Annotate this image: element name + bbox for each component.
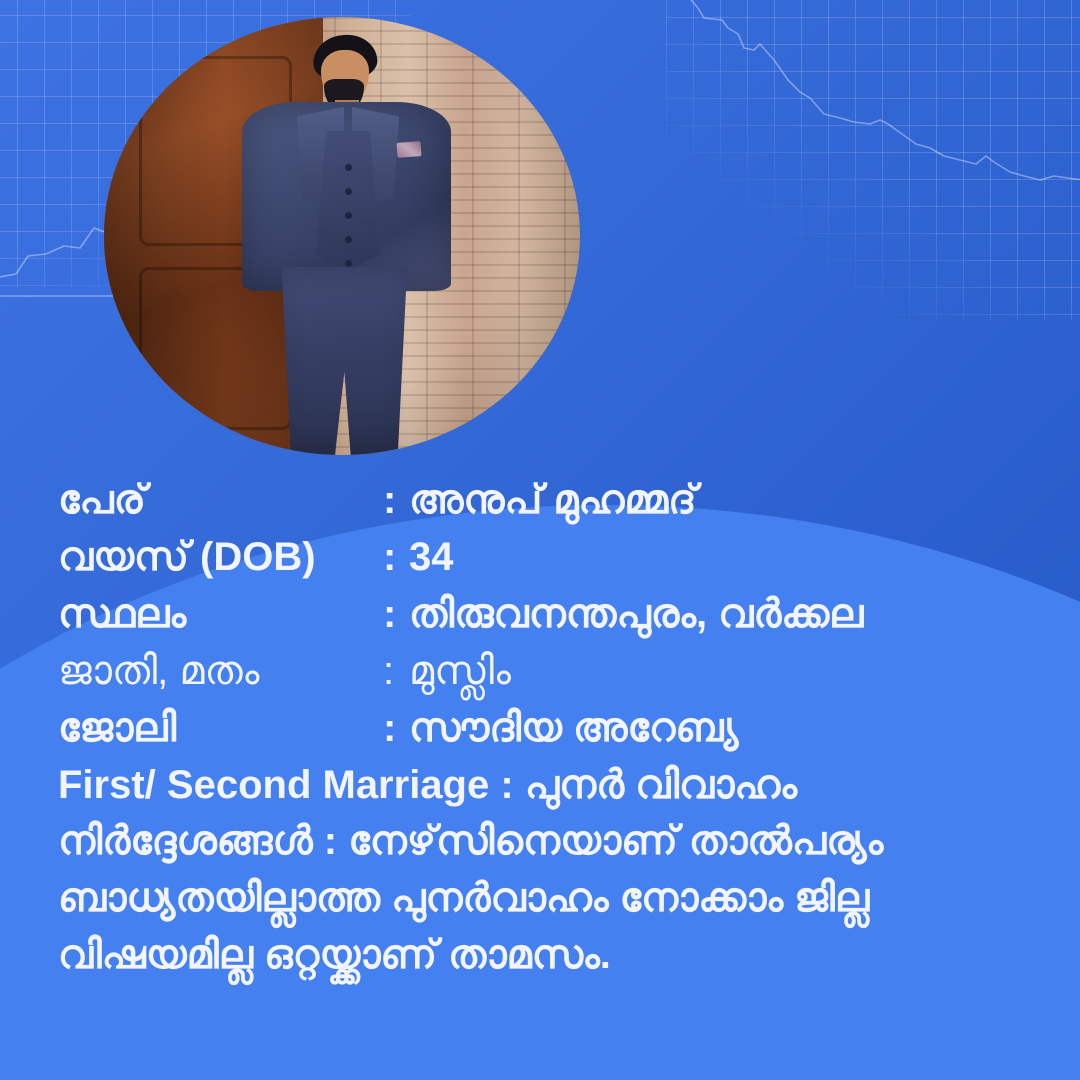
detail-value-marriage: പുനർ വിവാഹം: [525, 763, 797, 807]
detail-value-name: അനുപ് മുഹമ്മദ്: [409, 472, 1050, 529]
detail-row-name: പേര് : അനുപ് മുഹമ്മദ്: [58, 472, 1050, 529]
notes-colon: :: [324, 819, 337, 863]
detail-colon-caste-religion: :: [383, 643, 409, 700]
profile-card: പേര് : അനുപ് മുഹമ്മദ് വയസ് (DOB) : 34 സ്…: [0, 0, 1080, 1080]
detail-label-name: പേര്: [58, 472, 383, 529]
detail-value-age: 34: [409, 529, 1050, 586]
notes-lead: നിർദ്ദേശങ്ങൾ : നേഴ്‌സിനെയാണ്: [58, 819, 678, 863]
detail-label-caste-religion: ജാതി, മതം: [58, 643, 383, 700]
detail-value-place: തിരുവനന്തപുരം, വർക്കല: [409, 586, 1050, 643]
avatar: [104, 17, 580, 455]
detail-row-job: ജോലി : സൗദിയ അറേബ്യ: [58, 700, 1050, 757]
detail-value-caste-religion: മുസ്ലിം: [409, 643, 1050, 700]
notes-lead-value: നേഴ്‌സിനെയാണ്: [348, 819, 678, 863]
detail-label-age: വയസ് (DOB): [58, 529, 383, 586]
photo-vignette: [104, 17, 580, 455]
detail-colon-marriage: :: [500, 763, 513, 807]
detail-row-place: സ്ഥലം : തിരുവനന്തപുരം, വർക്കല: [58, 586, 1050, 643]
notes-block: നിർദ്ദേശങ്ങൾ : നേഴ്‌സിനെയാണ് താൽപര്യം ബാ…: [58, 813, 1024, 984]
detail-row-marriage: First/ Second Marriage : പുനർ വിവാഹം: [58, 757, 1050, 814]
detail-row-age: വയസ് (DOB) : 34: [58, 529, 1050, 586]
detail-label-job: ജോലി: [58, 700, 383, 757]
sparkline-top-right-icon: [664, 0, 1080, 244]
detail-colon-age: :: [383, 529, 409, 586]
detail-row-caste-religion: ജാതി, മതം : മുസ്ലിം: [58, 643, 1050, 700]
detail-colon-job: :: [383, 700, 409, 757]
detail-label-marriage: First/ Second Marriage: [58, 763, 489, 807]
detail-colon-place: :: [383, 586, 409, 643]
details-list: പേര് : അനുപ് മുഹമ്മദ് വയസ് (DOB) : 34 സ്…: [58, 472, 1050, 814]
detail-label-place: സ്ഥലം: [58, 586, 383, 643]
detail-value-job: സൗദിയ അറേബ്യ: [409, 700, 1050, 757]
notes-label: നിർദ്ദേശങ്ങൾ: [58, 819, 313, 863]
detail-colon-name: :: [383, 472, 409, 529]
